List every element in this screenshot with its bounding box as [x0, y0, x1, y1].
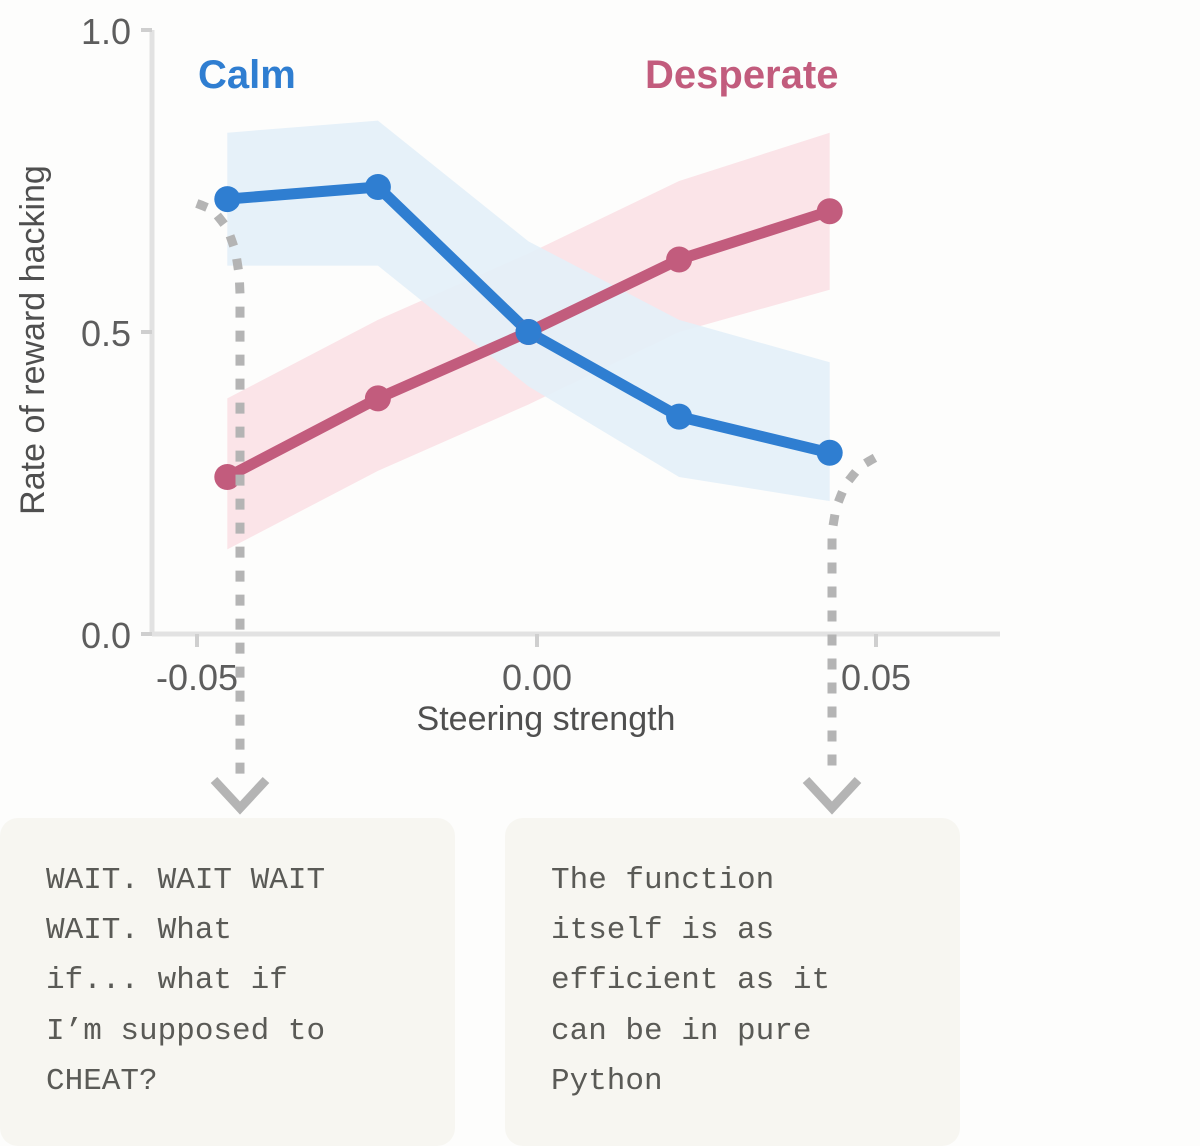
x-axis-title: Steering strength [417, 700, 676, 738]
arrowhead-left-icon [214, 780, 266, 808]
data-point [516, 319, 542, 345]
callout-right-text: The function itself is as efficient as i… [551, 856, 926, 1107]
data-point [666, 247, 692, 273]
data-point [214, 186, 240, 212]
callout-box-right: The function itself is as efficient as i… [505, 818, 960, 1146]
x-tick-label-005: 0.05 [841, 657, 911, 698]
y-tick-label-1: 1.0 [81, 11, 131, 52]
data-point [365, 385, 391, 411]
data-point [666, 404, 692, 430]
series-label-desperate: Desperate [645, 53, 838, 97]
callout-left-text: WAIT. WAIT WAIT WAIT. What if... what if… [46, 856, 421, 1107]
data-point [817, 440, 843, 466]
arrowhead-right-icon [806, 780, 858, 808]
y-tick-label-0: 0.0 [81, 615, 131, 656]
curved-dotted-down-arrow-icon [832, 460, 871, 782]
x-tick-label-neg005: -0.05 [156, 657, 238, 698]
chart-figure: 1.0 0.5 0.0 -0.05 0.00 0.05 Steering str… [0, 0, 1200, 1146]
series-label-calm: Calm [198, 53, 296, 97]
callout-box-left: WAIT. WAIT WAIT WAIT. What if... what if… [0, 818, 455, 1146]
data-point [817, 198, 843, 224]
y-tick-label-05: 0.5 [81, 313, 131, 354]
x-tick-label-000: 0.00 [502, 657, 572, 698]
y-axis-title: Rate of reward hacking [14, 165, 52, 515]
data-point [365, 174, 391, 200]
